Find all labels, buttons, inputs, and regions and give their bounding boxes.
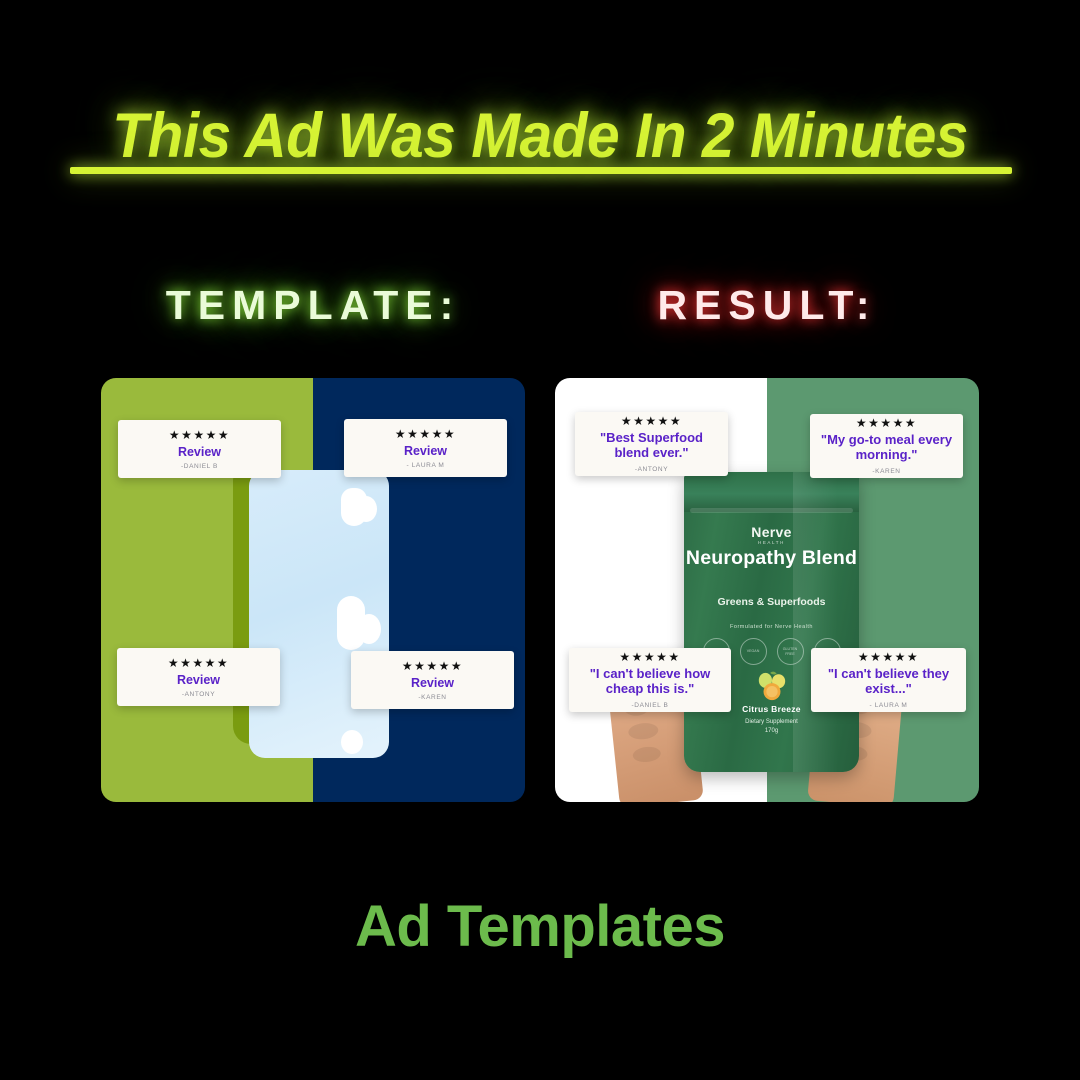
star-rating-icon: ★★★★★ [856, 417, 917, 429]
star-rating-icon: ★★★★★ [169, 429, 230, 441]
badge-label: GLUTEN FREE [778, 647, 803, 655]
review-author: -ANTONY [635, 466, 668, 473]
review-author: -KAREN [872, 468, 900, 475]
review-card[interactable]: ★★★★★ "I can't believe how cheap this is… [569, 648, 731, 712]
headline-underline [70, 167, 1012, 174]
star-rating-icon: ★★★★★ [619, 651, 680, 663]
review-card[interactable]: ★★★★★ Review - LAURA M [344, 419, 507, 477]
review-card[interactable]: ★★★★★ Review -KAREN [351, 651, 514, 709]
placeholder-hand-blob [355, 496, 377, 522]
review-card[interactable]: ★★★★★ "Best Superfood blend ever." -ANTO… [575, 412, 728, 476]
review-text: Review [177, 673, 220, 687]
product-pouch[interactable]: Nerve HEALTH Neuropathy Blend Greens & S… [684, 472, 859, 772]
review-author: - LAURA M [407, 462, 445, 469]
badge-icon: GLUTEN FREE [777, 638, 804, 665]
product-supplement-info: Dietary Supplement 170g [684, 718, 859, 736]
brand-subtitle: HEALTH [684, 540, 859, 545]
product-weight: 170g [684, 727, 859, 736]
review-card[interactable]: ★★★★★ Review -ANTONY [117, 648, 280, 706]
product-note: Formulated for Nerve Health [684, 624, 859, 630]
star-rating-icon: ★★★★★ [168, 657, 229, 669]
review-text: Review [404, 444, 447, 458]
review-author: -ANTONY [182, 691, 215, 698]
product-title: Neuropathy Blend [684, 548, 859, 570]
badge-label: VEGAN [747, 649, 760, 653]
review-text: Review [178, 445, 221, 459]
star-rating-icon: ★★★★★ [395, 428, 456, 440]
footer-brand-label: Ad Templates [0, 893, 1080, 960]
section-label-template: TEMPLATE: [101, 282, 525, 329]
section-label-result: RESULT: [555, 282, 979, 329]
review-author: -DANIEL B [181, 463, 218, 470]
review-author: - LAURA M [870, 702, 908, 709]
star-rating-icon: ★★★★★ [621, 415, 682, 427]
result-panel[interactable]: Nerve HEALTH Neuropathy Blend Greens & S… [555, 378, 979, 802]
review-card[interactable]: ★★★★★ "My go-to meal every morning." -KA… [810, 414, 963, 478]
star-rating-icon: ★★★★★ [858, 651, 919, 663]
review-text: "My go-to meal every morning." [818, 433, 955, 462]
placeholder-hand-blob [341, 730, 363, 754]
brand-name: Nerve [751, 524, 791, 540]
headline-container: This Ad Was Made In 2 Minutes [0, 104, 1080, 168]
page-title: This Ad Was Made In 2 Minutes [112, 104, 968, 168]
star-rating-icon: ★★★★★ [402, 660, 463, 672]
review-author: -KAREN [418, 694, 446, 701]
template-panel[interactable]: ★★★★★ Review -DANIEL B ★★★★★ Review - LA… [101, 378, 525, 802]
badge-icon: VEGAN [740, 638, 767, 665]
review-text: Review [411, 676, 454, 690]
review-card[interactable]: ★★★★★ "I can't believe they exist..." - … [811, 648, 966, 712]
brand-logo: Nerve HEALTH [684, 524, 859, 545]
review-text: "I can't believe how cheap this is." [577, 667, 723, 696]
citrus-fruit-icon [753, 670, 791, 702]
review-text: "I can't believe they exist..." [819, 667, 958, 696]
review-card[interactable]: ★★★★★ Review -DANIEL B [118, 420, 281, 478]
review-author: -DANIEL B [632, 702, 669, 709]
placeholder-hand-blob [357, 614, 381, 644]
supplement-label: Dietary Supplement [684, 718, 859, 727]
product-subtitle: Greens & Superfoods [684, 596, 859, 609]
review-text: "Best Superfood blend ever." [583, 431, 720, 460]
ad-creative-canvas: This Ad Was Made In 2 Minutes TEMPLATE: … [0, 0, 1080, 1080]
